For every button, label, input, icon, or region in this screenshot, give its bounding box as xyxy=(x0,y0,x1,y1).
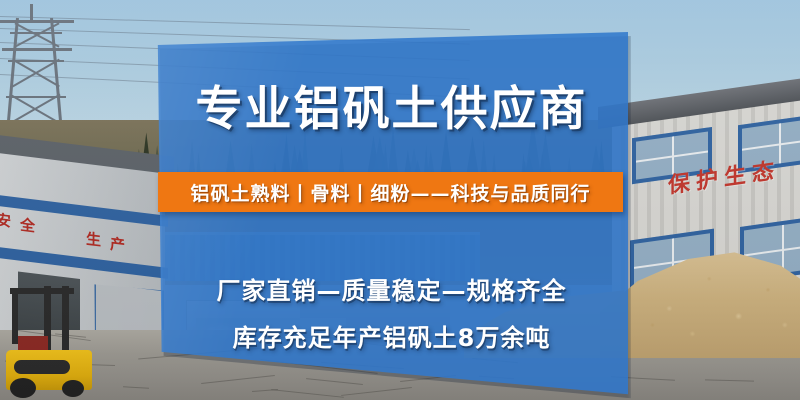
ribbon-label: 铝矾土熟料丨骨料丨细粉——科技与品质同行 xyxy=(190,179,590,206)
subline-two: 库存充足年产铝矾土8万余吨 xyxy=(155,318,628,353)
headline-title: 专业铝矾土供应商 xyxy=(155,84,628,136)
subline-one: 厂家直销—质量稳定—规格齐全 xyxy=(155,271,628,306)
promo-banner: 安 全 生 产 保护生态 xyxy=(0,0,800,400)
banner-content: 专业铝矾土供应商 铝矾土熟料丨骨料丨细粉——科技与品质同行 厂家直销—质量稳定—… xyxy=(155,26,628,398)
orange-ribbon: 铝矾土熟料丨骨料丨细粉——科技与品质同行 xyxy=(158,172,623,212)
